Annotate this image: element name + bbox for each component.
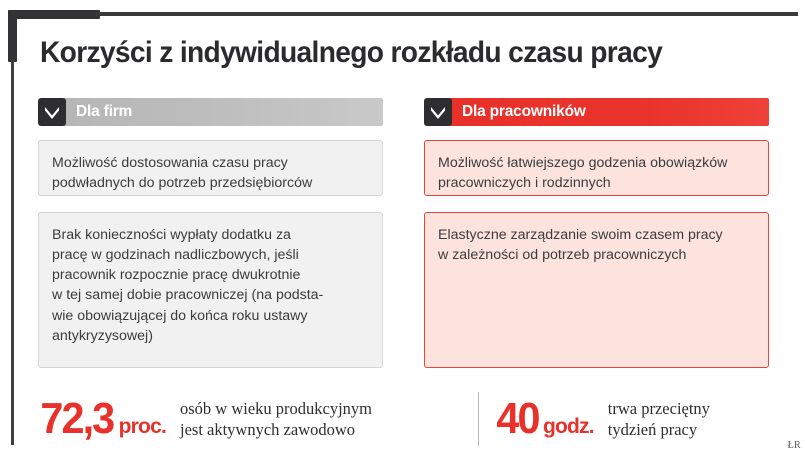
info-box-line: Możliwość łatwiejszego godzenia obowiązk… <box>438 153 754 173</box>
info-box-line: Elastyczne zarządzanie swoim czasem prac… <box>438 225 754 245</box>
info-box-line: Brak konieczności wypłaty dodatku za <box>52 225 368 245</box>
column-header-firms: Dla firm <box>38 98 383 126</box>
info-box-line: w tej samej dobie pracowniczej (na podst… <box>52 285 368 305</box>
column-header-employees: Dla pracowników <box>424 98 769 126</box>
page-title: Korzyści z indywidualnego rozkładu czasu… <box>40 36 747 70</box>
info-box-line: podwładnych do potrzeb przedsiębiorców <box>52 173 368 193</box>
column-header-label-firms: Dla firm <box>64 98 383 126</box>
stat-description-line: osób w wieku produkcyjnym <box>180 398 372 419</box>
stat-value: 40 <box>496 397 538 441</box>
frame-top-rule <box>96 12 798 16</box>
info-box-line: wie obowiązującej do końca roku ustawy <box>52 306 368 326</box>
info-box-line: Możliwość dostosowania czasu pracy <box>52 153 368 173</box>
info-box-line: pracowniczych i rodzinnych <box>438 173 754 193</box>
stat-unit: proc. <box>119 416 166 437</box>
stat-description-workweek: trwa przeciętny tydzień pracy <box>608 398 710 441</box>
stat-description-line: trwa przeciętny <box>608 398 710 419</box>
stat-figure-workforce: 72,3 proc. <box>38 397 166 441</box>
info-box-line: antykryzysowej) <box>52 326 368 346</box>
info-box-firms-1: Możliwość dostosowania czasu pracy podwł… <box>38 140 383 196</box>
info-box-firms-2: Brak konieczności wypłaty dodatku za pra… <box>38 212 383 368</box>
stat-description-line: tydzień pracy <box>608 419 710 440</box>
chevron-down-icon <box>38 98 66 126</box>
column-employees: Dla pracowników Możliwość łatwiejszego g… <box>424 98 769 126</box>
info-box-line: pracownik rozpocznie pracę dwukrotnie <box>52 265 368 285</box>
info-box-employees-2: Elastyczne zarządzanie swoim czasem prac… <box>424 212 769 368</box>
info-box-line: pracę w godzinach nadliczbowych, jeśli <box>52 245 368 265</box>
frame-corner-bracket-horizontal <box>8 10 100 19</box>
frame-left-rule <box>11 60 14 445</box>
stat-workforce: 72,3 proc. osób w wieku produkcyjnym jes… <box>38 388 372 450</box>
stat-unit: godz. <box>543 416 594 437</box>
statistics-row: 72,3 proc. osób w wieku produkcyjnym jes… <box>38 388 783 450</box>
credit-byline: ŁR <box>788 440 801 451</box>
chevron-down-icon <box>424 98 452 126</box>
column-firms: Dla firm Możliwość dostosowania czasu pr… <box>38 98 383 126</box>
info-box-employees-1: Możliwość łatwiejszego godzenia obowiązk… <box>424 140 769 196</box>
stat-description-line: jest aktywnych zawodowo <box>180 419 372 440</box>
info-box-line: w zależności od potrzeb pracowniczych <box>438 245 754 265</box>
stat-workweek: 40 godz. trwa przeciętny tydzień pracy <box>495 388 710 450</box>
stat-value: 72,3 <box>40 397 113 441</box>
frame-corner-bracket-vertical <box>8 10 17 62</box>
stat-figure-workweek: 40 godz. <box>495 397 594 441</box>
stat-description-workforce: osób w wieku produkcyjnym jest aktywnych… <box>180 398 372 441</box>
stats-divider <box>478 392 479 446</box>
column-header-label-employees: Dla pracowników <box>450 98 769 126</box>
